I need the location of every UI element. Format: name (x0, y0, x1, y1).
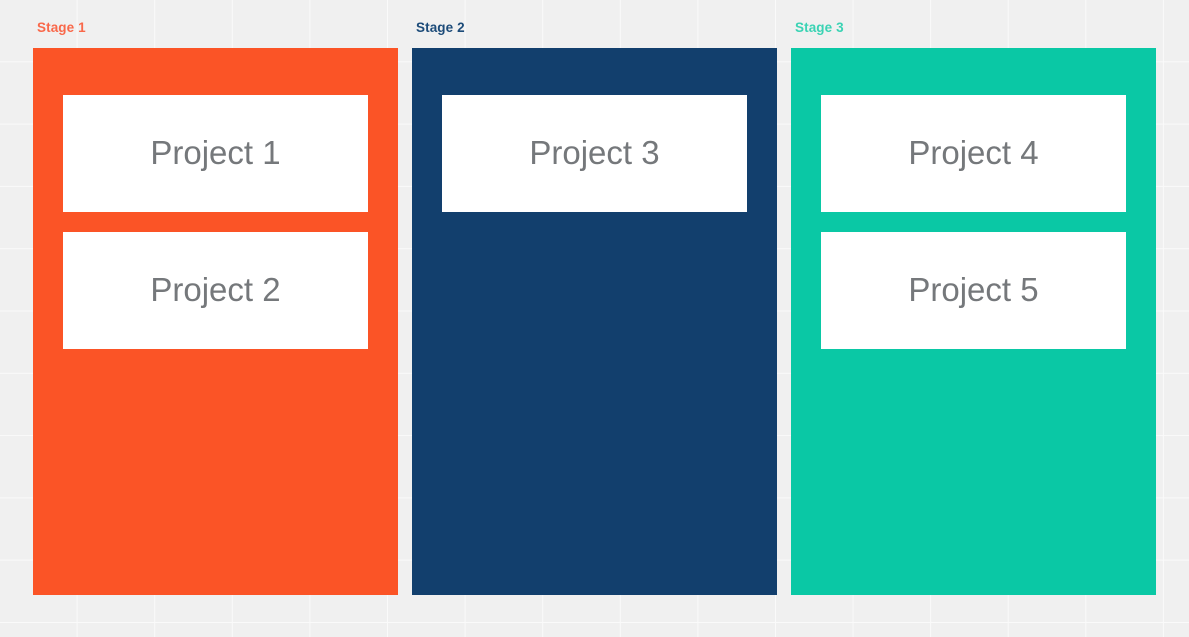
stage-column-3: Stage 3 Project 4 Project 5 (791, 0, 1156, 595)
kanban-board: Stage 1 Project 1 Project 2 Stage 2 Proj… (0, 0, 1189, 637)
stage-column-1: Stage 1 Project 1 Project 2 (33, 0, 398, 595)
project-card[interactable]: Project 3 (442, 95, 747, 212)
stage-column-2: Stage 2 Project 3 (412, 0, 777, 595)
project-card-title: Project 4 (908, 135, 1038, 171)
project-card-title: Project 3 (529, 135, 659, 171)
stage-label-1[interactable]: Stage 1 (33, 21, 398, 35)
project-card-title: Project 1 (150, 135, 280, 171)
stage-dropzone-2[interactable]: Project 3 (412, 48, 777, 595)
project-card[interactable]: Project 2 (63, 232, 368, 349)
project-card-title: Project 5 (908, 272, 1038, 308)
project-card[interactable]: Project 4 (821, 95, 1126, 212)
stage-dropzone-3[interactable]: Project 4 Project 5 (791, 48, 1156, 595)
project-card[interactable]: Project 1 (63, 95, 368, 212)
stage-columns-container: Stage 1 Project 1 Project 2 Stage 2 Proj… (0, 0, 1189, 637)
project-card-title: Project 2 (150, 272, 280, 308)
stage-label-3[interactable]: Stage 3 (791, 21, 1156, 35)
project-card[interactable]: Project 5 (821, 232, 1126, 349)
stage-label-2[interactable]: Stage 2 (412, 21, 777, 35)
stage-dropzone-1[interactable]: Project 1 Project 2 (33, 48, 398, 595)
